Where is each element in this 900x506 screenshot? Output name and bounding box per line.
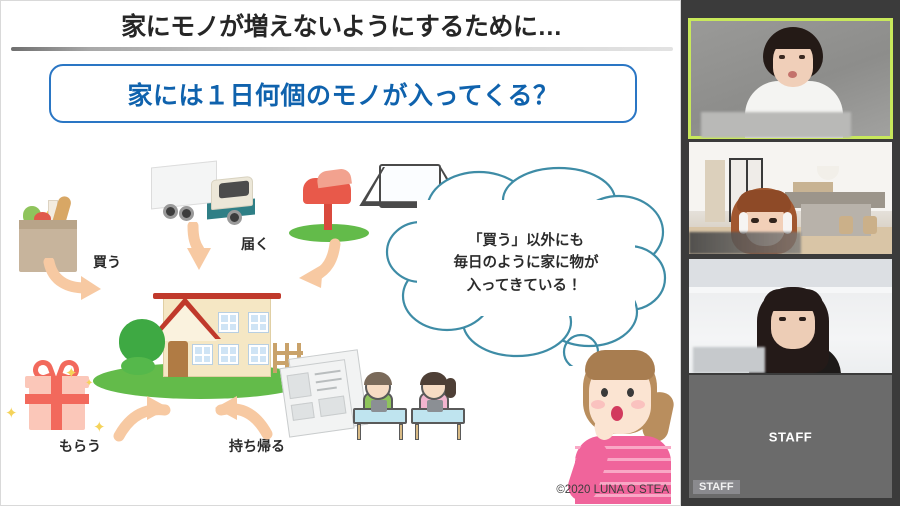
video-tile-1[interactable]	[689, 19, 892, 138]
headline-text: 家には１日何個のモノが入ってくる？	[127, 76, 558, 112]
participant-name-badge: STAFF	[693, 480, 740, 494]
house-window	[219, 313, 238, 332]
mailbox-icon	[289, 168, 369, 242]
video-tile-2[interactable]	[689, 142, 892, 254]
house-illustration	[93, 271, 308, 401]
school-desks-icon	[353, 374, 471, 444]
placeholder-center-label: STAFF	[689, 429, 892, 444]
house-window	[249, 345, 268, 364]
house-roof-bar	[153, 293, 281, 299]
diagram-canvas: 買う 届く	[1, 126, 681, 496]
flow-arrow-truck	[181, 222, 221, 272]
label-delivered: 届く	[241, 234, 269, 254]
house-window	[193, 345, 212, 364]
delivery-truck-icon	[149, 154, 259, 228]
flow-arrow-delivered	[289, 238, 343, 294]
title-divider	[11, 47, 673, 51]
sparkle-icon: ✦	[93, 418, 106, 436]
gift-box-icon	[15, 360, 95, 434]
meeting-screen-share-view: 家にモノが増えないようにするために… 家には１日何個のモノが入ってくる？	[0, 0, 900, 506]
slide-title: 家にモノが増えないようにするために…	[1, 5, 681, 45]
participant-video-panel: STAFF STAFF	[681, 0, 900, 506]
house-window	[249, 313, 268, 332]
sparkle-icon: ✦	[85, 378, 93, 389]
bush-shape	[121, 357, 155, 375]
house-window	[219, 345, 238, 364]
thought-bubble: 「買う」以外にも 毎日のように家に物が 入ってきている ！	[383, 166, 669, 366]
flow-arrow-receive	[113, 394, 175, 442]
copyright-text: ©2020 LUNA O STEA	[1, 484, 673, 496]
shared-slide: 家にモノが増えないようにするために… 家には１日何個のモノが入ってくる？	[0, 0, 681, 506]
label-receive: もらう	[59, 436, 101, 456]
headline-box: 家には１日何個のモノが入ってくる？	[49, 64, 637, 123]
video-tile-4-placeholder[interactable]: STAFF STAFF	[689, 375, 892, 498]
video-tile-3[interactable]	[689, 259, 892, 373]
house-door	[168, 341, 188, 377]
thinking-girl-icon	[567, 344, 677, 504]
sparkle-icon: ✦	[5, 404, 18, 422]
thought-bubble-text: 「買う」以外にも 毎日のように家に物が 入ってきている ！	[383, 230, 669, 297]
flow-arrow-bring-home	[205, 394, 275, 442]
sparkle-icon: ✦	[65, 364, 78, 382]
flow-arrow-buy	[43, 258, 103, 304]
